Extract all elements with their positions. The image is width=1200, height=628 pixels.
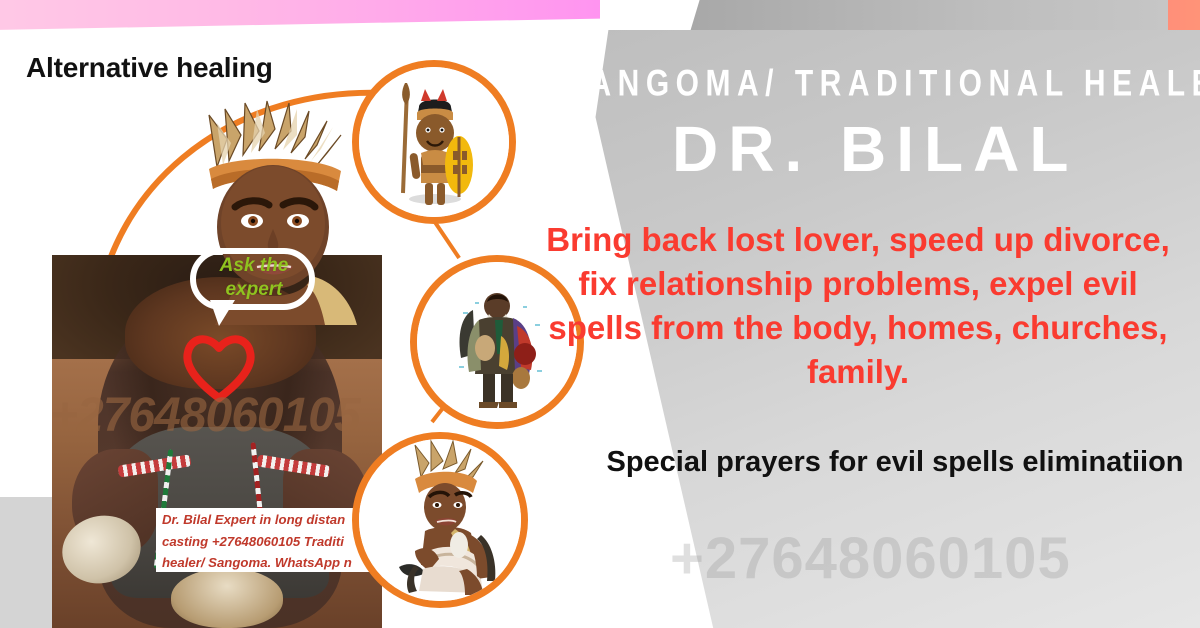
- poster-canvas: Alternative healing: [0, 0, 1200, 628]
- circle-illustration-crouching-dancer: [352, 432, 528, 608]
- caption-line-3: healer/ Sangoma. WhatsApp n: [156, 551, 382, 572]
- caption-line-2: casting +27648060105 Traditi: [156, 530, 382, 552]
- zulu-warrior-icon: [359, 67, 509, 217]
- top-grey-bar: [690, 0, 1170, 32]
- headline-kicker: SANGOMA/ TRADITIONAL HEALER: [563, 64, 1183, 105]
- right-watermark-phone: +27648060105: [670, 525, 1071, 592]
- photo-bowl: [171, 568, 283, 628]
- top-pink-bar: [0, 0, 600, 30]
- caption-line-1: Dr. Bilal Expert in long distan: [156, 508, 382, 530]
- photo-watermark-phone: +27648060105: [50, 388, 360, 443]
- services-text: Bring back lost lover, speed up divorce,…: [528, 218, 1188, 394]
- headline-name: DR. BILAL: [672, 112, 1078, 186]
- crouching-dancer-icon: [359, 439, 521, 601]
- speech-bubble-text: Ask the expert: [202, 254, 306, 302]
- speech-bubble: Ask the expert: [190, 248, 315, 310]
- circle-illustration-zulu-warrior: [352, 60, 516, 224]
- photo-caption-box: Dr. Bilal Expert in long distan casting …: [156, 508, 382, 572]
- page-title: Alternative healing: [26, 52, 273, 84]
- special-offer-text: Special prayers for evil spells eliminat…: [600, 443, 1190, 481]
- top-salmon-bar: [1168, 0, 1200, 30]
- bottom-left-grey-block: [0, 497, 60, 628]
